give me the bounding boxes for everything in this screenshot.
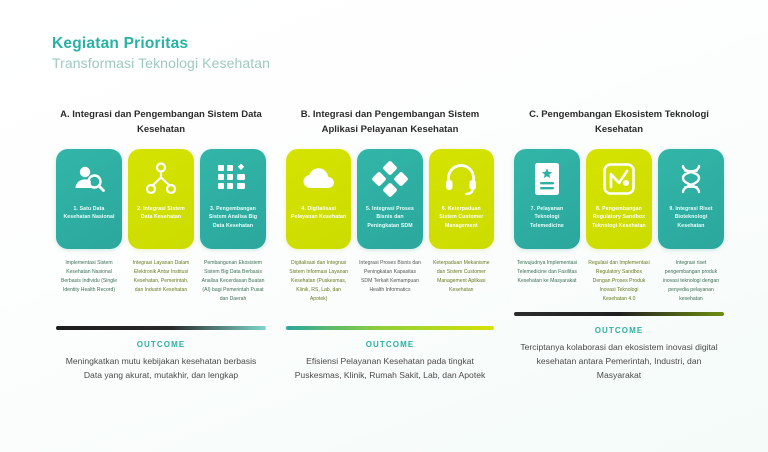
innovation-lab-icon	[599, 159, 639, 199]
card-2-label: 2. Integrasi Sistem Data Kesehatan	[128, 205, 194, 222]
card-4-description: Digitalisasi dan Integrasi Sistem Inform…	[286, 259, 351, 318]
card-1-label: 1. Satu Data Kesehatan Nasional	[56, 205, 122, 222]
headset-support-icon	[441, 159, 481, 199]
card-8-description: Regulasi dan Implementasi Regulatory San…	[586, 259, 652, 304]
group-a-title: A. Integrasi dan Pengembangan Sistem Dat…	[56, 108, 266, 140]
card-6-label: 6. Keterpaduan Sistem Customer Managemen…	[429, 205, 494, 230]
group-c-outcome: OUTCOME Terciptanya kolaborasi dan ekosi…	[514, 312, 724, 383]
card-5-label: 5. Integrasi Proses Bisnis dan Peningkat…	[357, 205, 422, 230]
outcome-c-label: OUTCOME	[514, 326, 724, 335]
card-1[interactable]: 1. Satu Data Kesehatan Nasional	[56, 149, 122, 249]
card-9-description: Integrasi riset pengembangan produk inov…	[658, 259, 724, 304]
page-title: Kegiatan Prioritas	[52, 34, 270, 53]
card-8-label: 8. Pengembangan Regulatory Sandbox Tekno…	[586, 205, 652, 230]
group-b-outcome: OUTCOME Efisiensi Pelayanan Kesehatan pa…	[286, 326, 494, 382]
card-3[interactable]: 3. Pengembangan Sistem Analisa Big Data …	[200, 149, 266, 249]
group-c-cards: 7. Pelayanan Teknologi Telemedicine 8. P…	[514, 149, 724, 249]
group-b: B. Integrasi dan Pengembangan Sistem Apl…	[278, 108, 502, 382]
group-c-descriptions: Terwujudnya Implementasi Telemedicine da…	[514, 259, 724, 304]
page-subtitle: Transformasi Teknologi Kesehatan	[52, 53, 270, 74]
group-b-title: B. Integrasi dan Pengembangan Sistem Apl…	[286, 108, 494, 140]
group-b-cards: 4. Digitalisasi Pelayanan Kesehatan 5. I…	[286, 149, 494, 249]
dna-research-icon	[671, 159, 711, 199]
card-2-description: Integrasi Layanan Dalam Elektronik Antar…	[128, 259, 194, 318]
groups-container: A. Integrasi dan Pengembangan Sistem Dat…	[48, 108, 724, 382]
infographic-page: Kegiatan Prioritas Transformasi Teknolog…	[0, 0, 768, 452]
header: Kegiatan Prioritas Transformasi Teknolog…	[52, 34, 270, 74]
card-7-description: Terwujudnya Implementasi Telemedicine da…	[514, 259, 580, 304]
card-8[interactable]: 8. Pengembangan Regulatory Sandbox Tekno…	[586, 149, 652, 249]
card-7-label: 7. Pelayanan Teknologi Telemedicine	[514, 205, 580, 230]
cloud-icon	[299, 159, 339, 199]
outcome-bar-b	[286, 326, 494, 330]
card-9[interactable]: 9. Integrasi Riset Bioteknologi Kesehata…	[658, 149, 724, 249]
card-9-label: 9. Integrasi Riset Bioteknologi Kesehata…	[658, 205, 724, 230]
card-5-description: Integrasi Proses Bisnis dan Peningkatan …	[357, 259, 422, 318]
group-c-title: C. Pengembangan Ekosistem Teknologi Kese…	[514, 108, 724, 140]
outcome-c-text: Terciptanya kolaborasi dan ekosistem ino…	[514, 340, 724, 383]
card-3-label: 3. Pengembangan Sistem Analisa Big Data …	[200, 205, 266, 230]
big-data-grid-icon	[213, 159, 253, 199]
card-7[interactable]: 7. Pelayanan Teknologi Telemedicine	[514, 149, 580, 249]
card-1-description: Implementasi Sistem Kesehatan Nasional B…	[56, 259, 122, 318]
outcome-b-text: Efisiensi Pelayanan Kesehatan pada tingk…	[286, 354, 494, 382]
card-6[interactable]: 6. Keterpaduan Sistem Customer Managemen…	[429, 149, 494, 249]
card-4[interactable]: 4. Digitalisasi Pelayanan Kesehatan	[286, 149, 351, 249]
card-5[interactable]: 5. Integrasi Proses Bisnis dan Peningkat…	[357, 149, 422, 249]
group-a-cards: 1. Satu Data Kesehatan Nasional 2. Integ…	[56, 149, 266, 249]
card-4-label: 4. Digitalisasi Pelayanan Kesehatan	[286, 205, 351, 222]
outcome-a-text: Meningkatkan mutu kebijakan kesehatan be…	[56, 354, 266, 382]
outcome-a-label: OUTCOME	[56, 340, 266, 349]
group-b-descriptions: Digitalisasi dan Integrasi Sistem Inform…	[286, 259, 494, 318]
user-search-icon	[69, 159, 109, 199]
outcome-bar-c	[514, 312, 724, 316]
outcome-b-label: OUTCOME	[286, 340, 494, 349]
card-6-description: Keterpaduan Mekanisme dan Sistem Custome…	[429, 259, 494, 318]
group-a-descriptions: Implementasi Sistem Kesehatan Nasional B…	[56, 259, 266, 318]
medical-document-icon	[527, 159, 567, 199]
puzzle-diamond-icon	[370, 159, 410, 199]
card-3-description: Pembangunan Ekosistem Sistem Big Data Be…	[200, 259, 266, 318]
group-a: A. Integrasi dan Pengembangan Sistem Dat…	[48, 108, 274, 382]
network-share-icon	[141, 159, 181, 199]
group-c: C. Pengembangan Ekosistem Teknologi Kese…	[506, 108, 732, 382]
outcome-bar-a	[56, 326, 266, 330]
card-2[interactable]: 2. Integrasi Sistem Data Kesehatan	[128, 149, 194, 249]
group-a-outcome: OUTCOME Meningkatkan mutu kebijakan kese…	[56, 326, 266, 382]
